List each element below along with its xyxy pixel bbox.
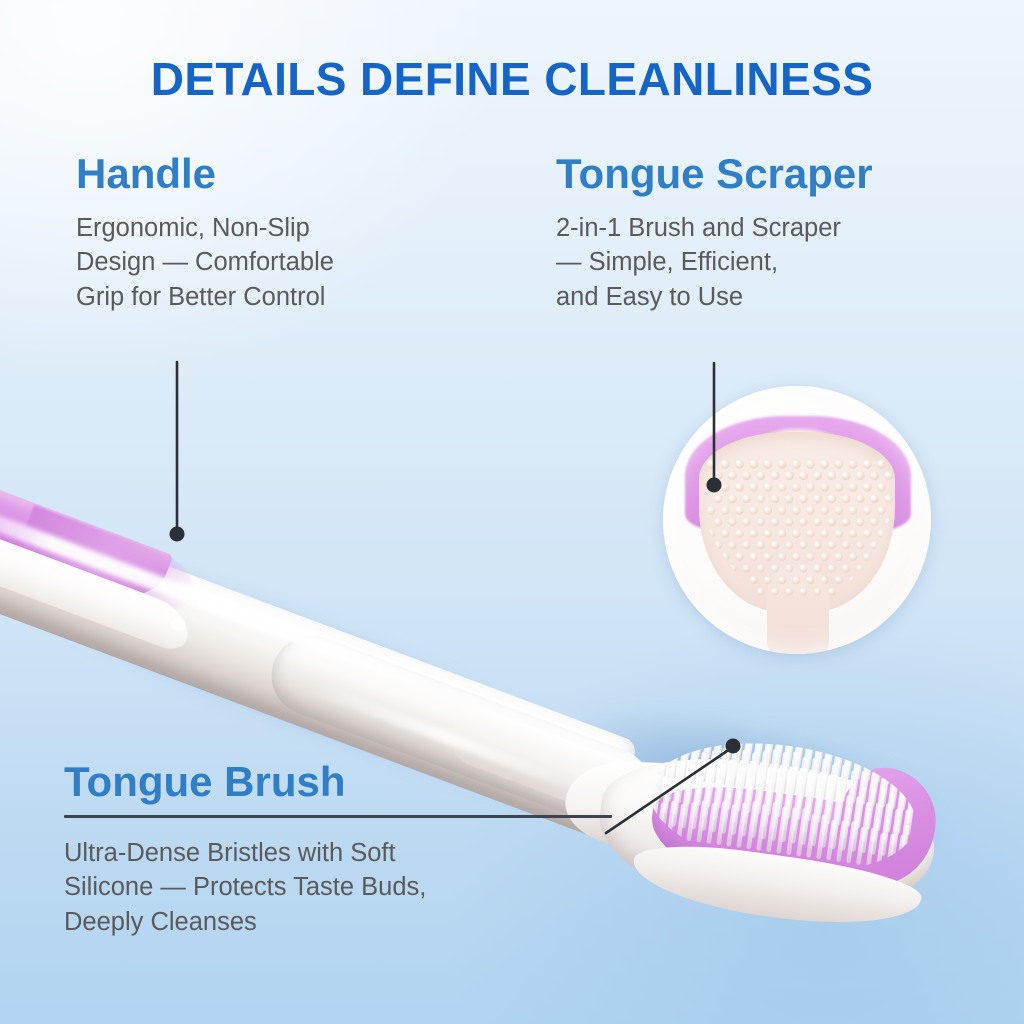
callout-block-scraper: Tongue Scraper 2-in-1 Brush and Scraper …	[556, 152, 873, 315]
callout-body-line: Deeply Cleanses	[64, 905, 612, 940]
callout-body-line: Silicone — Protects Taste Buds,	[64, 870, 612, 905]
callout-body-handle: Ergonomic, Non-Slip Design — Comfortable…	[76, 211, 334, 315]
scraper-closeup-circle	[663, 386, 931, 654]
callout-body-line: Design — Comfortable	[76, 245, 334, 280]
inset-scraper-nubs	[663, 386, 931, 654]
callout-body-brush: Ultra-Dense Bristles with Soft Silicone …	[64, 836, 612, 940]
callout-title-scraper: Tongue Scraper	[556, 152, 873, 197]
callout-block-handle: Handle Ergonomic, Non-Slip Design — Comf…	[76, 152, 334, 315]
callout-body-line: and Easy to Use	[556, 280, 873, 315]
callout-block-brush: Tongue Brush Ultra-Dense Bristles with S…	[64, 760, 612, 940]
callout-body-line: 2-in-1 Brush and Scraper	[556, 211, 873, 246]
callout-body-line: — Simple, Efficient,	[556, 245, 873, 280]
callout-title-brush: Tongue Brush	[64, 760, 612, 805]
callout-body-line: Ergonomic, Non-Slip	[76, 211, 334, 246]
brush-head	[588, 707, 951, 942]
page-title: DETAILS DEFINE CLEANLINESS	[0, 52, 1024, 106]
infographic-canvas: DETAILS DEFINE CLEANLINESS Handle Ergono…	[0, 0, 1024, 1024]
callout-body-line: Ultra-Dense Bristles with Soft	[64, 836, 612, 871]
callout-title-handle: Handle	[76, 152, 334, 197]
callout-body-line: Grip for Better Control	[76, 280, 334, 315]
callout-divider-rule	[64, 815, 612, 818]
callout-body-scraper: 2-in-1 Brush and Scraper — Simple, Effic…	[556, 211, 873, 315]
